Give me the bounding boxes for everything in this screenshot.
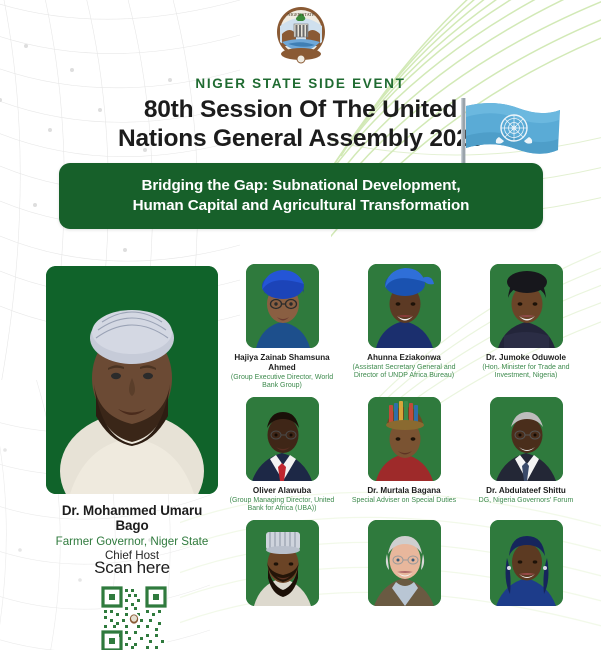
speaker-row-2: Oliver Alawuba (Group Managing Director,… [228, 397, 580, 514]
speaker-photo [368, 520, 441, 606]
portrait-mohammed-umaru-bago-icon [46, 266, 218, 494]
flyer-canvas: NIGER STATE NIGER STATE SIDE EVENT 80th … [0, 0, 601, 650]
speaker-name: Dr. Jumoke Oduwole [486, 353, 566, 363]
speaker-name: Ahunna Eziakonwa [367, 353, 441, 363]
chief-host-role: Farmer Governor, Niger State [46, 535, 218, 548]
theme-line-2: Human Capital and Agricultural Transform… [133, 196, 470, 216]
speaker-name: Dr. Abdulateef Shittu [486, 486, 566, 496]
chief-host-photo [46, 266, 218, 494]
speaker-photo [246, 264, 319, 348]
speaker-card [350, 520, 458, 612]
speaker-role: (Group Executive Director, World Bank Gr… [228, 374, 336, 391]
theme-banner: Bridging the Gap: Subnational Developmen… [59, 163, 543, 229]
speaker-role: DG, Nigeria Governors' Forum [479, 497, 574, 506]
crest-container: NIGER STATE [0, 4, 601, 64]
portrait-abdulateef-shittu-icon [490, 397, 563, 481]
speaker-role: (Group Managing Director, United Bank fo… [228, 497, 336, 514]
speaker-role: Special Adviser on Special Duties [352, 497, 456, 506]
speaker-card: Dr. Murtala Bagana Special Adviser on Sp… [350, 397, 458, 514]
speaker-role: (Hon. Minister for Trade and Investment,… [472, 364, 580, 381]
speaker-name: Dr. Murtala Bagana [367, 486, 440, 496]
speaker-card: Dr. Jumoke Oduwole (Hon. Minister for Tr… [472, 264, 580, 391]
qr-code-icon[interactable] [101, 586, 167, 650]
qr-code[interactable] [101, 586, 167, 650]
speaker-role: (Assistant Secretary General and Directo… [350, 364, 458, 381]
speaker-photo [490, 264, 563, 348]
speaker-card: Ahunna Eziakonwa (Assistant Secretary Ge… [350, 264, 458, 391]
speaker-row-1: Hajiya Zainab Shamsuna Ahmed (Group Exec… [228, 264, 580, 391]
scan-here-label: Scan here [46, 558, 218, 578]
speaker-photo [368, 397, 441, 481]
speaker-grid: Hajiya Zainab Shamsuna Ahmed (Group Exec… [228, 264, 580, 618]
speaker-card: Hajiya Zainab Shamsuna Ahmed (Group Exec… [228, 264, 336, 391]
portrait-oliver-alawuba-icon [246, 397, 319, 481]
event-kicker: NIGER STATE SIDE EVENT [0, 76, 601, 91]
speaker-photo [490, 397, 563, 481]
title-line-1: 80th Session Of The United [144, 96, 457, 123]
speaker-name: Oliver Alawuba [253, 486, 311, 496]
portrait-speaker-row3-2-icon [368, 520, 441, 606]
speaker-card [228, 520, 336, 612]
portrait-jumoke-oduwole-icon [490, 264, 563, 348]
speaker-card: Dr. Abdulateef Shittu DG, Nigeria Govern… [472, 397, 580, 514]
speaker-name: Hajiya Zainab Shamsuna Ahmed [228, 353, 336, 373]
svg-text:NIGER STATE: NIGER STATE [287, 12, 315, 17]
portrait-zainab-shamsuna-ahmed-icon [246, 264, 319, 348]
chief-host-name: Dr. Mohammed Umaru Bago [46, 503, 218, 533]
speaker-photo [368, 264, 441, 348]
speaker-photo [246, 520, 319, 606]
niger-state-coat-of-arms-icon: NIGER STATE [270, 4, 332, 64]
theme-line-1: Bridging the Gap: Subnational Developmen… [142, 177, 461, 194]
speaker-row-3 [228, 520, 580, 612]
speaker-photo [246, 397, 319, 481]
speaker-card [472, 520, 580, 612]
portrait-ahunna-eziakonwa-icon [368, 264, 441, 348]
speaker-photo [490, 520, 563, 606]
speaker-card: Oliver Alawuba (Group Managing Director,… [228, 397, 336, 514]
portrait-murtala-bagana-icon [368, 397, 441, 481]
portrait-speaker-row3-3-icon [490, 520, 563, 606]
chief-host-block: Dr. Mohammed Umaru Bago Farmer Governor,… [46, 266, 218, 562]
theme-text: Bridging the Gap: Subnational Developmen… [117, 176, 486, 216]
portrait-speaker-row3-1-icon [246, 520, 319, 606]
